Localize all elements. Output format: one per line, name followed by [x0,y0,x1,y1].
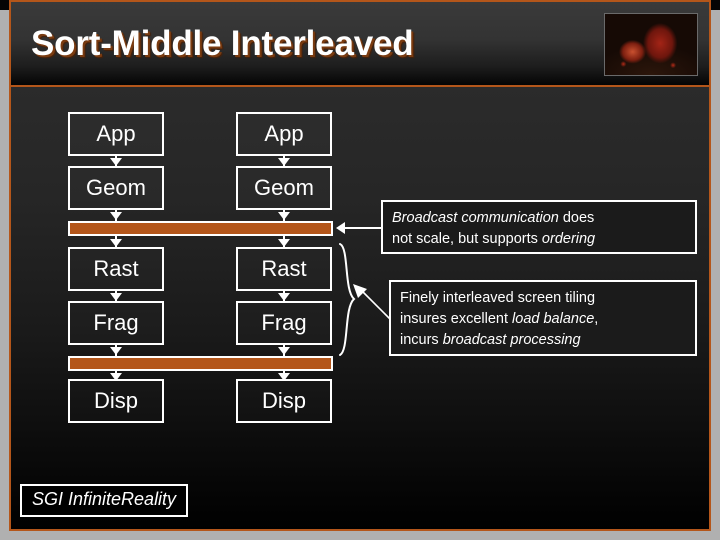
leader-arrowhead [336,222,345,234]
callout-text: insures excellent [400,311,512,327]
stage-box-app-right: App [236,112,332,156]
screen-tiling-callout: Finely interleaved screen tiling insures… [389,280,697,356]
connector-arrowhead [278,239,290,247]
stage-box-disp-right: Disp [236,379,332,423]
stage-box-disp-left: Disp [68,379,164,423]
stage-box-geom-right: Geom [236,166,332,210]
page-title: Sort-Middle Interleaved [31,24,413,64]
stage-box-frag-left: Frag [68,301,164,345]
connector-arrowhead [110,212,122,220]
stage-box-rast-right: Rast [236,247,332,291]
lower-broadcast-bus [68,356,333,371]
callout-em: broadcast processing [443,332,581,348]
footer-label: SGI InfiniteReality [20,484,188,517]
broadcast-communication-callout: Broadcast communication does not scale, … [381,200,697,254]
connector-arrowhead [110,158,122,166]
stage-box-app-left: App [68,112,164,156]
callout-line: incurs broadcast processing [400,330,687,351]
connector-arrowhead [110,347,122,355]
pomegranate-photo [604,13,698,76]
slide-frame: Sort-Middle Interleaved App Geom Rast Fr… [0,0,720,540]
callout-text: does [559,210,594,226]
slide-canvas: Sort-Middle Interleaved App Geom Rast Fr… [9,0,711,531]
stage-box-geom-left: Geom [68,166,164,210]
callout-line: insures excellent load balance, [400,309,687,330]
slide-body: App Geom Rast Frag Disp App Geom [11,87,709,531]
callout-text: incurs [400,332,443,348]
stage-box-frag-right: Frag [236,301,332,345]
callout-text: Finely interleaved screen tiling [400,290,595,306]
callout-line: Broadcast communication does [392,208,687,229]
title-bar: Sort-Middle Interleaved [11,2,709,87]
callout-line: not scale, but supports ordering [392,229,687,250]
connector-arrowhead [278,347,290,355]
callout-text: , [594,311,598,327]
connector-arrowhead [278,293,290,301]
connector-arrowhead [110,239,122,247]
stage-box-rast-left: Rast [68,247,164,291]
leader-line-to-upper-bus [343,227,381,229]
connector-arrowhead [278,212,290,220]
callout-line: Finely interleaved screen tiling [400,288,687,309]
connector-arrowhead [278,158,290,166]
callout-em: ordering [542,231,595,247]
callout-em: Broadcast communication [392,210,559,226]
callout-text: not scale, but supports [392,231,542,247]
callout-em: load balance [512,311,594,327]
upper-broadcast-bus [68,221,333,236]
connector-arrowhead [110,293,122,301]
